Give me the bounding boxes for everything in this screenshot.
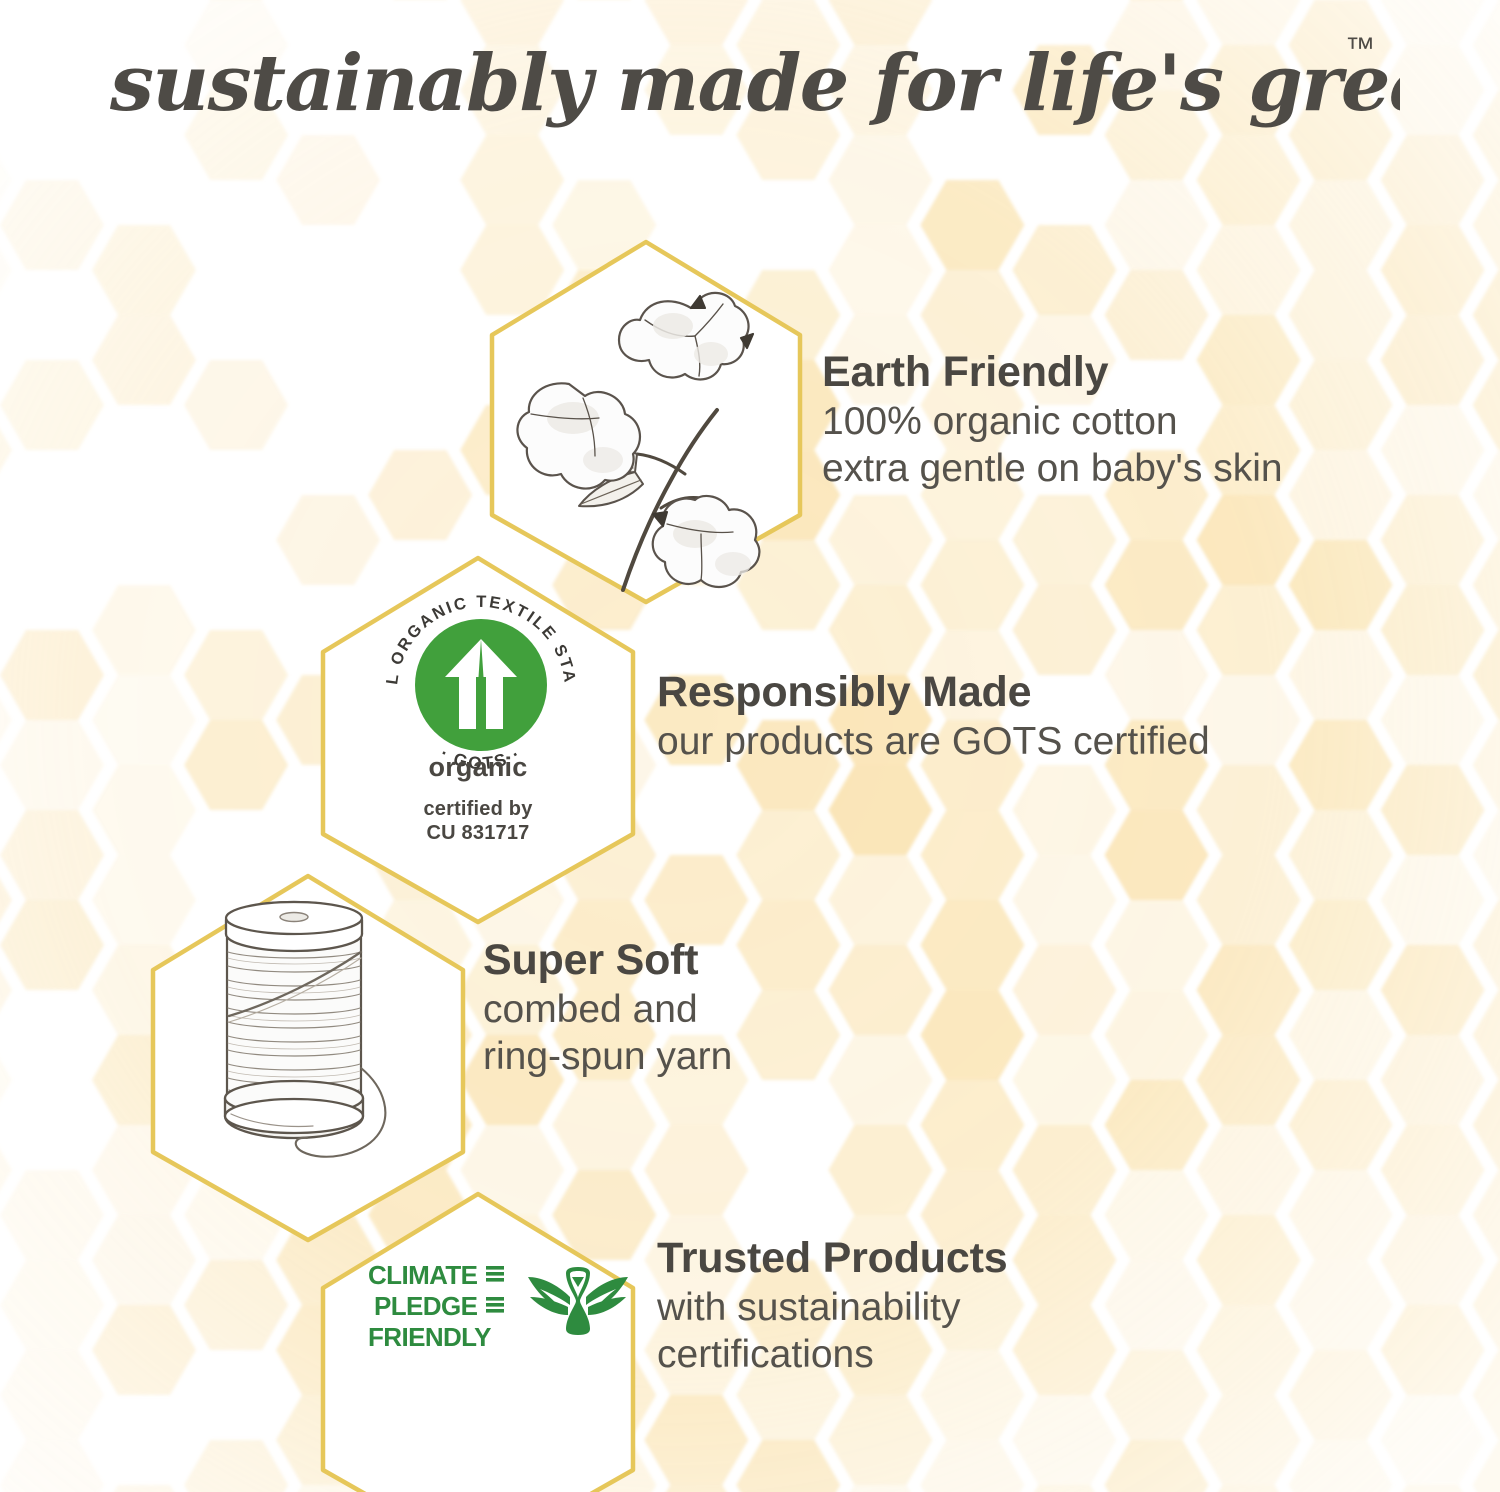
feature-line-1: combed and bbox=[483, 987, 732, 1034]
feature-line-2: extra gentle on baby's skin bbox=[822, 446, 1283, 493]
feature-title: Trusted Products bbox=[657, 1234, 1007, 1282]
feature-title: Super Soft bbox=[483, 936, 732, 984]
winged-hourglass-icon bbox=[526, 1263, 630, 1354]
feature-text-super-soft: Super Soft combed and ring-spun yarn bbox=[483, 936, 732, 1081]
gots-certifier-code: CU 831717 bbox=[348, 821, 608, 845]
gots-certified-by-label: certified by bbox=[348, 797, 608, 821]
gots-organic-label: organic bbox=[348, 752, 608, 783]
feature-line-1: with sustainability bbox=[657, 1285, 1007, 1332]
feature-line-1: our products are GOTS certified bbox=[657, 719, 1210, 766]
feature-title: Earth Friendly bbox=[822, 348, 1283, 396]
feature-line-1: 100% organic cotton bbox=[822, 399, 1283, 446]
svg-text:PLEDGE: PLEDGE bbox=[374, 1291, 478, 1321]
feature-text-responsibly-made: Responsibly Made our products are GOTS c… bbox=[657, 668, 1210, 766]
svg-text:FRIENDLY: FRIENDLY bbox=[368, 1322, 491, 1352]
svg-text:CLIMATE: CLIMATE bbox=[368, 1260, 478, 1290]
infographic-canvas: sustainably made for life's greatest joy… bbox=[0, 0, 1500, 1492]
feature-text-trusted-products: Trusted Products with sustainability cer… bbox=[657, 1234, 1007, 1379]
feature-line-2: certifications bbox=[657, 1332, 1007, 1379]
climate-pledge-friendly-icon: CLIMATE PLEDGE FRIENDLY bbox=[368, 1258, 630, 1358]
feature-title: Responsibly Made bbox=[657, 668, 1210, 716]
thread-spool-sketch-icon bbox=[195, 890, 425, 1170]
gots-badge-text: organic certified by CU 831717 bbox=[348, 752, 608, 846]
cpf-wordmark: CLIMATE PLEDGE FRIENDLY bbox=[368, 1258, 508, 1358]
feature-line-2: ring-spun yarn bbox=[483, 1034, 732, 1081]
feature-text-earth-friendly: Earth Friendly 100% organic cotton extra… bbox=[822, 348, 1283, 493]
cotton-plant-sketch-icon bbox=[495, 268, 815, 598]
